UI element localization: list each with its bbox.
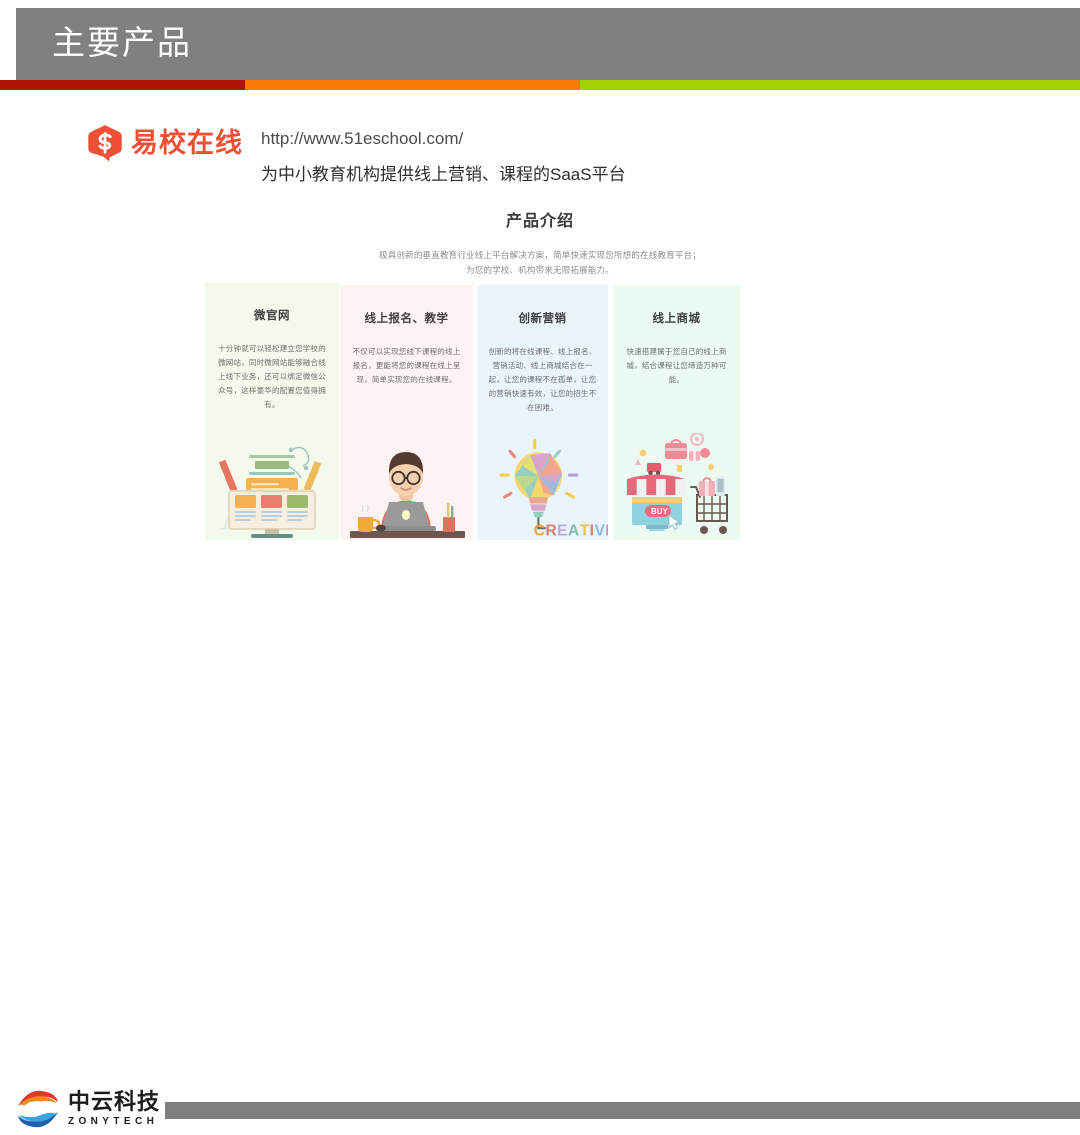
accent-segment-green	[580, 80, 1080, 90]
creative-lightbulb-illustration-icon: CREATIVE	[477, 433, 608, 541]
online-shop-cart-illustration-icon: BUY	[613, 433, 740, 541]
feature-card-innovative-marketing[interactable]: 创新营销 创新的将在线课程、线上报名、营销活动、线上商城结合在一起，让您的课程不…	[477, 285, 608, 541]
feature-card-online-mall[interactable]: 线上商城 快速搭建属于您自己的线上商城，结合课程让您缔造万种可能。	[613, 285, 740, 541]
intro-description-line-1: 极具创新的垂直教育行业线上平台解决方案，简单快速实现您所想的在线教育平台；	[205, 248, 875, 263]
feature-card-online-enrollment[interactable]: 线上报名、教学 不仅可以实现您线下课程的线上报名，更能将您的课程在线上呈现，简单…	[340, 285, 473, 541]
company-logo: 中云科技 ZONYTECH	[14, 1088, 160, 1130]
card-title: 创新营销	[477, 311, 608, 327]
intro-description-line-2: 为您的学校、机构带来无限拓展能力。	[205, 263, 875, 278]
person-at-laptop-illustration-icon	[340, 433, 473, 541]
accent-segment-red	[0, 80, 245, 90]
company-name-cn: 中云科技	[68, 1090, 160, 1114]
product-url[interactable]: http://www.51eschool.com/	[261, 126, 626, 152]
footer-gray-bar	[165, 1102, 1080, 1119]
product-name: 易校在线	[131, 124, 243, 162]
card-body: 十分钟就可以轻松建立您学校的微网站，同时微网站能够融合线上线下业务，还可以绑定微…	[205, 342, 339, 412]
slide-header: 主要产品	[0, 0, 1080, 80]
product-intro-block: 产品介绍 极具创新的垂直教育行业线上平台解决方案，简单快速实现您所想的在线教育平…	[205, 210, 875, 278]
svg-text:BUY: BUY	[651, 507, 669, 516]
company-name-en: ZONYTECH	[68, 1115, 160, 1129]
svg-text:CREATIVE: CREATIVE	[534, 523, 608, 540]
brand-row: 易校在线 http://www.51eschool.com/ 为中小教育机构提供…	[86, 124, 626, 190]
brand-text-column: http://www.51eschool.com/ 为中小教育机构提供线上营销、…	[261, 124, 626, 190]
card-title: 线上商城	[613, 311, 740, 327]
card-title: 微官网	[205, 308, 339, 324]
zonytech-swoosh-logo-icon	[14, 1088, 62, 1130]
page-title: 主要产品	[52, 20, 192, 66]
product-logo: 易校在线	[86, 124, 243, 162]
intro-heading: 产品介绍	[205, 210, 875, 234]
card-title: 线上报名、教学	[340, 311, 473, 327]
website-design-illustration-icon: A a	[205, 433, 339, 541]
slide-footer: 中云科技 ZONYTECH	[0, 540, 1080, 608]
card-body: 创新的将在线课程、线上报名、营销活动、线上商城结合在一起，让您的课程不在孤单，让…	[477, 345, 608, 415]
feature-card-weiguanwang[interactable]: 微官网 十分钟就可以轻松建立您学校的微网站，同时微网站能够融合线上线下业务，还可…	[205, 282, 339, 541]
accent-color-bar	[0, 80, 1080, 90]
intro-description: 极具创新的垂直教育行业线上平台解决方案，简单快速实现您所想的在线教育平台； 为您…	[205, 248, 875, 278]
product-tagline: 为中小教育机构提供线上营销、课程的SaaS平台	[261, 160, 626, 190]
accent-segment-orange	[245, 80, 580, 90]
card-body: 快速搭建属于您自己的线上商城，结合课程让您缔造万种可能。	[613, 345, 740, 387]
feature-card-grid: 微官网 十分钟就可以轻松建立您学校的微网站，同时微网站能够融合线上线下业务，还可…	[205, 282, 875, 544]
company-wordmark: 中云科技 ZONYTECH	[68, 1090, 160, 1129]
speech-bubble-s-logo-icon	[86, 124, 124, 162]
card-body: 不仅可以实现您线下课程的线上报名，更能将您的课程在线上呈现，简单实现您的在线课程…	[340, 345, 473, 387]
